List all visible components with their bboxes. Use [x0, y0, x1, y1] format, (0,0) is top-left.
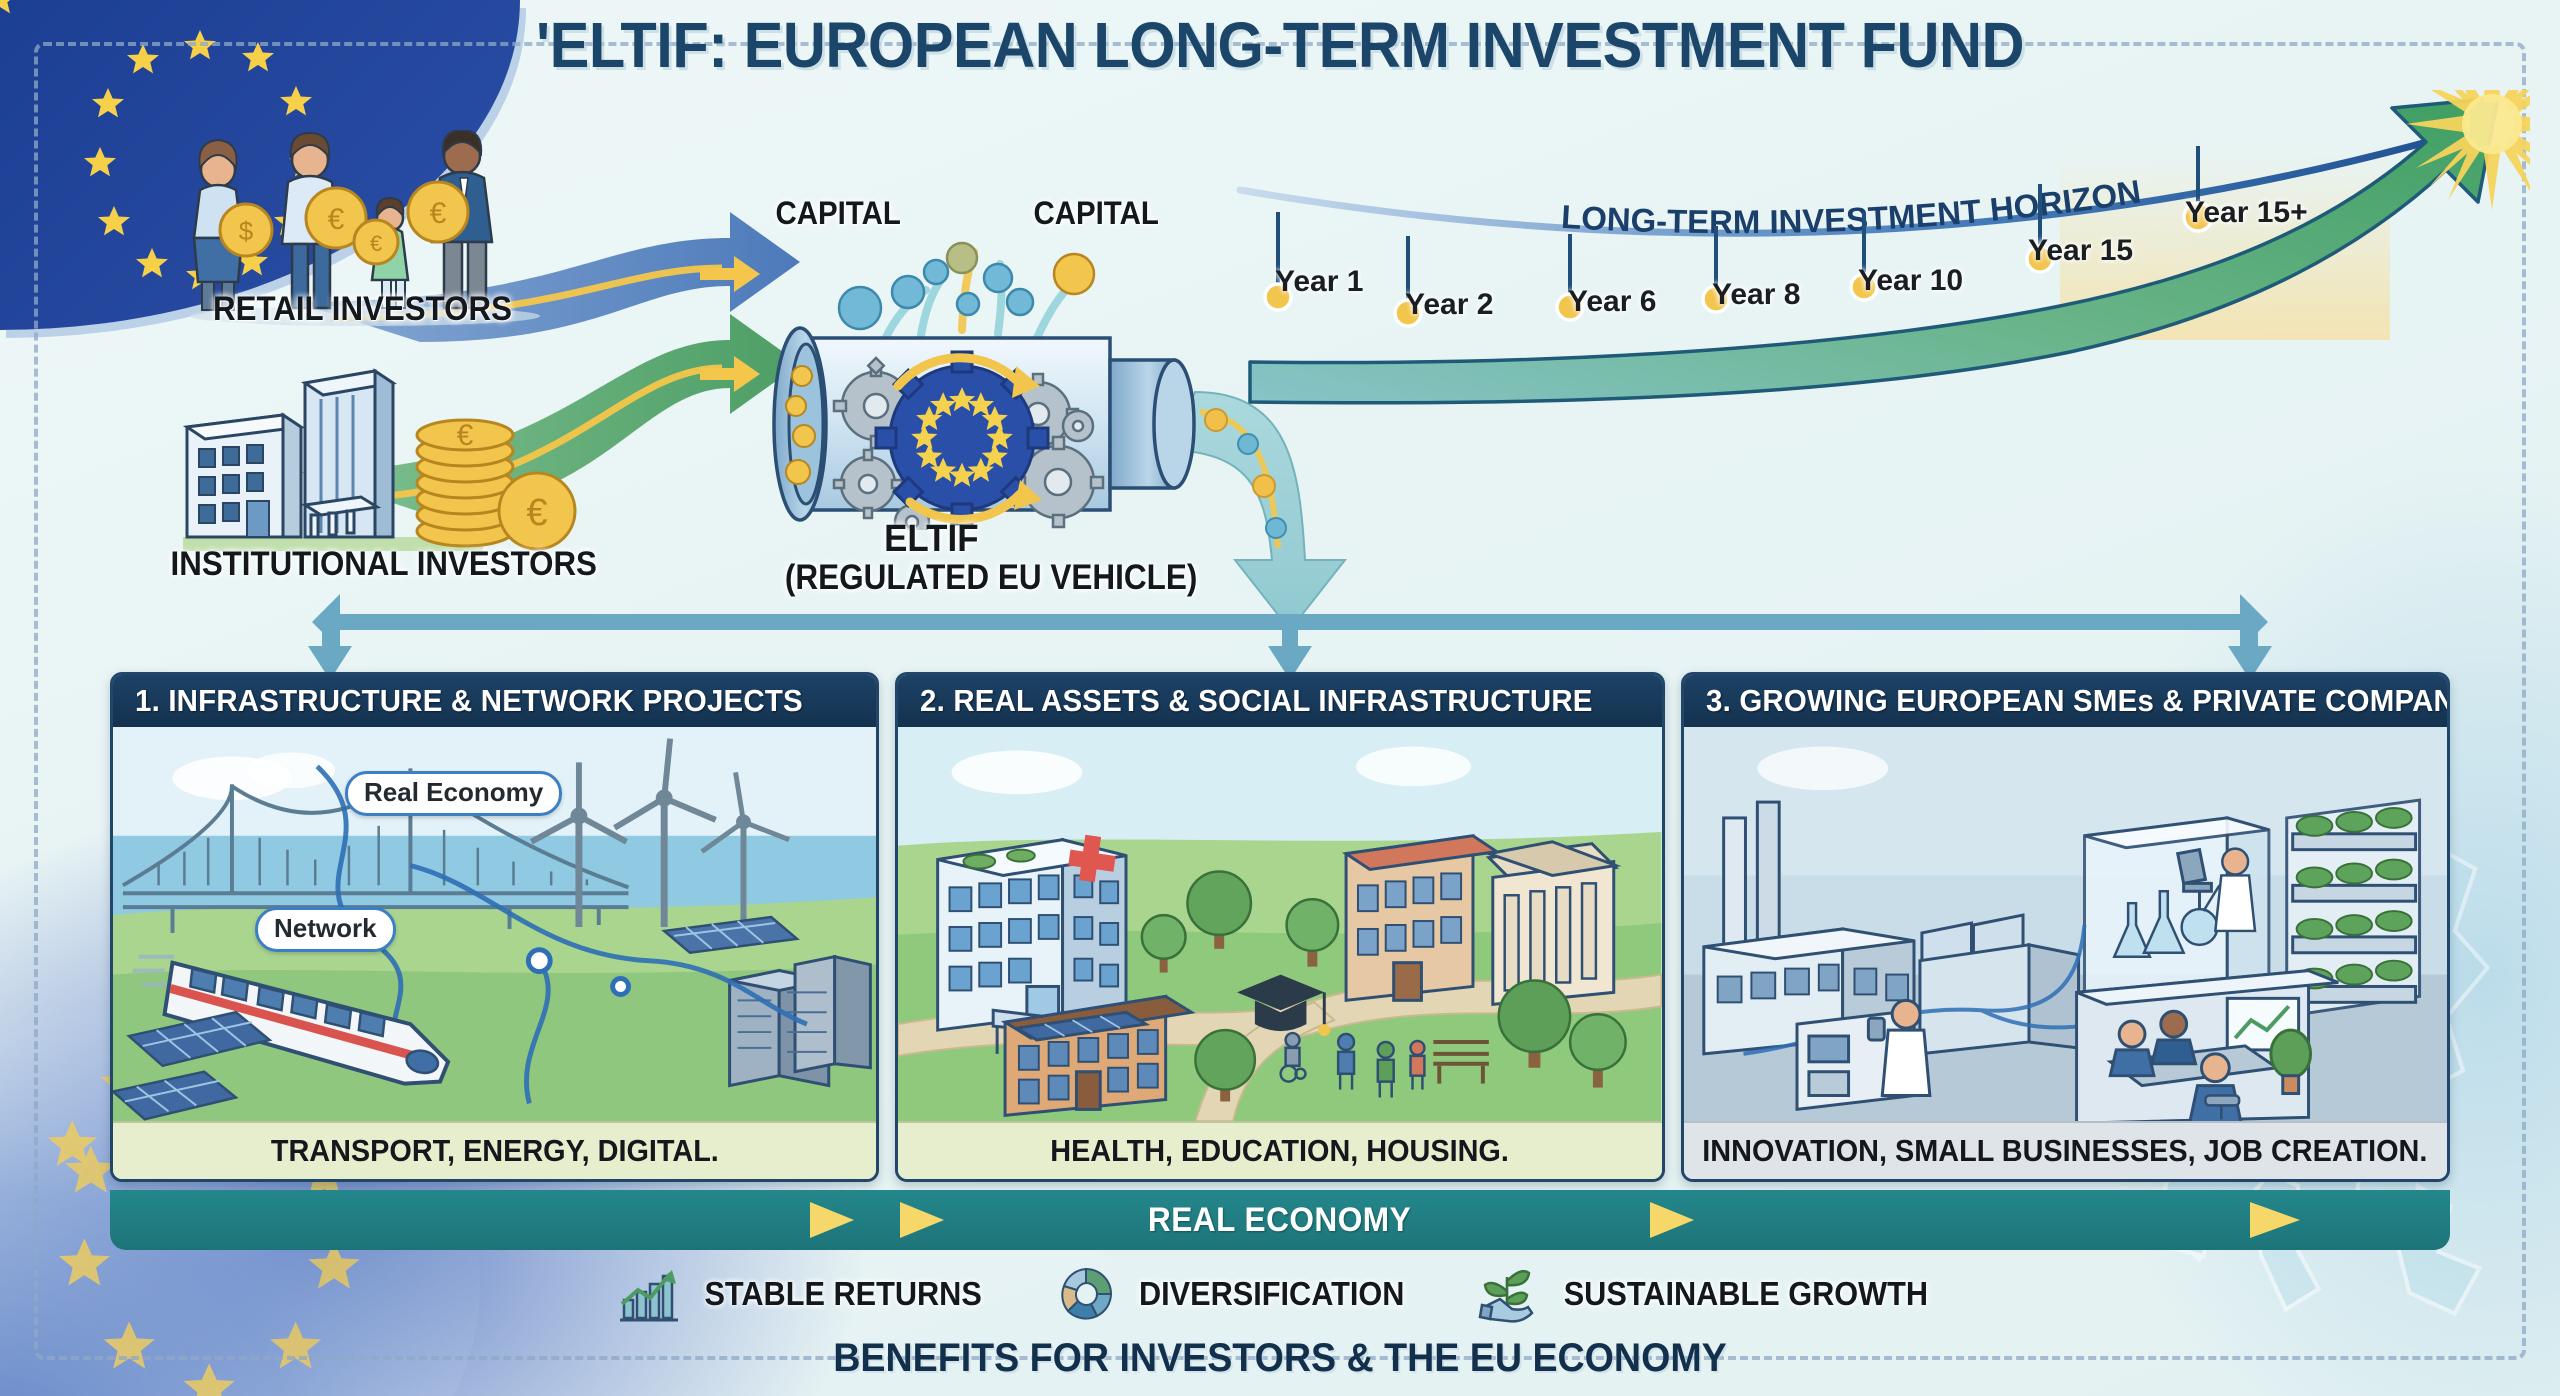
capital-label-right: CAPITAL [1033, 195, 1158, 232]
panel-caption-1-text: TRANSPORT, ENERGY, DIGITAL. [271, 1133, 719, 1169]
year-label-4: Year 10 [1858, 264, 1963, 298]
benefit-label-0: STABLE RETURNS [705, 1275, 982, 1313]
year-label-3: Year 8 [1712, 278, 1800, 312]
benefits-row: STABLE RETURNS DIVERSIFICATION [0, 1262, 2560, 1326]
hand-sprout-icon [1478, 1265, 1536, 1323]
panel-caption-3: INNOVATION, SMALL BUSINESSES, JOB CREATI… [1684, 1121, 2447, 1179]
panel-caption-3-text: INNOVATION, SMALL BUSINESSES, JOB CREATI… [1703, 1133, 2428, 1169]
panel-infrastructure[interactable]: 1. INFRASTRUCTURE & NETWORK PROJECTS [110, 672, 879, 1182]
panel-art-2 [898, 727, 1661, 1123]
panel-real-assets[interactable]: 2. REAL ASSETS & SOCIAL INFRASTRUCTURE [895, 672, 1664, 1182]
benefit-label-1: DIVERSIFICATION [1139, 1275, 1404, 1313]
distribution-bracket [100, 570, 2460, 680]
panel-header-2-text: 2. REAL ASSETS & SOCIAL INFRASTRUCTURE [920, 683, 1593, 719]
benefit-stable-returns[interactable]: STABLE RETURNS [618, 1266, 992, 1322]
panel-caption-2-text: HEALTH, EDUCATION, HOUSING. [1051, 1133, 1510, 1169]
eltif-subtitle-label: (REGULATED EU VEHICLE) [785, 558, 1197, 598]
infographic-canvas: 'ELTIF: EUROPEAN LONG-TERM INVESTMENT FU… [0, 0, 2560, 1396]
svg-text:€: € [526, 492, 547, 534]
hospital-school-housing-icon [898, 727, 1661, 1123]
year-label-5: Year 15 [2028, 234, 2133, 268]
svg-text:€: € [430, 197, 447, 230]
year-label-1: Year 2 [1405, 288, 1493, 322]
svg-text:€: € [370, 231, 382, 256]
panel-header-1-text: 1. INFRASTRUCTURE & NETWORK PROJECTS [135, 683, 803, 719]
pill-real-economy: Real Economy [345, 771, 562, 816]
year-label-0: Year 1 [1275, 265, 1363, 299]
panel-caption-1: TRANSPORT, ENERGY, DIGITAL. [113, 1121, 876, 1179]
retail-investors-label: RETAIL INVESTORS [213, 290, 512, 329]
real-economy-band: REAL ECONOMY [110, 1190, 2450, 1250]
panel-art-3 [1684, 727, 2447, 1123]
svg-text:€: € [457, 419, 474, 452]
pill-network: Network [255, 907, 396, 952]
donut-chart-icon [1057, 1265, 1115, 1323]
horizon-arc-label: LONG-TERM INVESTMENT HORIZON [1560, 173, 2143, 241]
panel-caption-2: HEALTH, EDUCATION, HOUSING. [898, 1121, 1661, 1179]
benefit-diversification[interactable]: DIVERSIFICATION [1057, 1265, 1414, 1323]
panel-smes[interactable]: 3. GROWING EUROPEAN SMEs & PRIVATE COMPA… [1681, 672, 2450, 1182]
year-label-2: Year 6 [1568, 285, 1656, 319]
institutional-investors-label: INSTITUTIONAL INVESTORS [171, 545, 597, 584]
bar-chart-growth-icon [618, 1266, 680, 1322]
panel-header-1: 1. INFRASTRUCTURE & NETWORK PROJECTS [113, 675, 876, 727]
eltif-name-label: ELTIF [884, 518, 979, 561]
year-label-6: Year 15+ [2185, 196, 2308, 230]
panel-art-1: Real Economy Network [113, 727, 876, 1123]
svg-text:€: € [328, 203, 345, 236]
institutional-investors-icon: € € [165, 365, 605, 555]
benefit-label-2: SUSTAINABLE GROWTH [1564, 1275, 1928, 1313]
svg-text:$: $ [239, 216, 254, 246]
panel-header-3: 3. GROWING EUROPEAN SMEs & PRIVATE COMPA… [1684, 675, 2447, 727]
capital-label-left: CAPITAL [775, 195, 900, 232]
factory-lab-farm-office-icon [1684, 727, 2447, 1123]
investment-horizon-chart: LONG-TERM INVESTMENT HORIZON [1230, 90, 2530, 420]
real-economy-label: REAL ECONOMY [1148, 1201, 1411, 1240]
panel-header-2: 2. REAL ASSETS & SOCIAL INFRASTRUCTURE [898, 675, 1661, 727]
benefit-sustainable-growth[interactable]: SUSTAINABLE GROWTH [1478, 1265, 1942, 1323]
footer-tagline: BENEFITS FOR INVESTORS & THE EU ECONOMY [77, 1336, 2483, 1381]
investment-categories: 1. INFRASTRUCTURE & NETWORK PROJECTS [110, 672, 2450, 1182]
eltif-machine-icon [740, 230, 1240, 530]
panel-header-3-text: 3. GROWING EUROPEAN SMEs & PRIVATE COMPA… [1706, 683, 2450, 719]
